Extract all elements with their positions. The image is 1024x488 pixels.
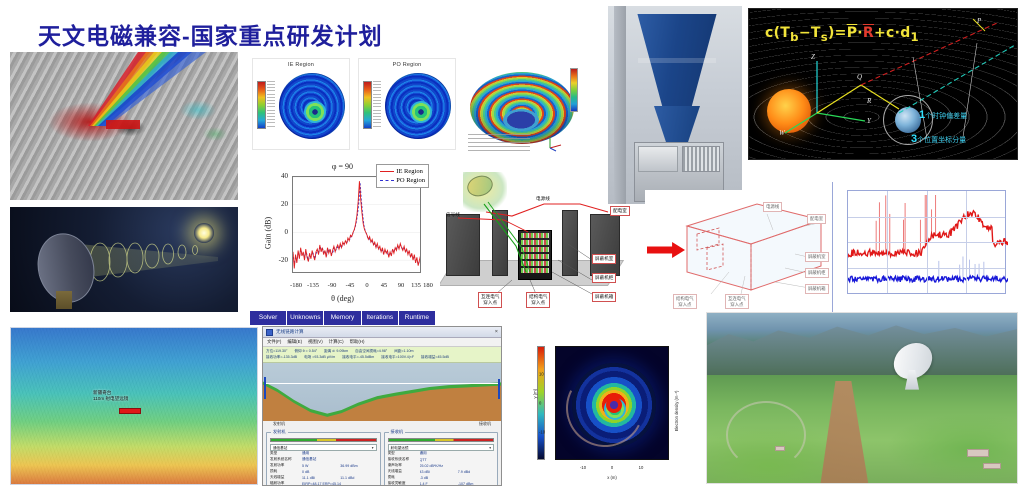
- rx-key-sens: 接收灵敏度: [388, 481, 418, 486]
- computation-readout: 方位=119.30° 俯仰 θ = 0.54° 距离 d: 9.09km 自由空…: [263, 347, 501, 363]
- rx-val-sens-dbm: -107 dBm: [458, 482, 494, 486]
- window-titlebar: 无线链路计算 ×: [263, 327, 501, 338]
- gain-xtick-4: 0: [365, 282, 368, 289]
- label-shield-cabinet: 屏蔽机柜: [592, 273, 616, 283]
- edens-xtick-0: -10: [580, 465, 586, 470]
- edens-ytick-1: 0: [539, 401, 541, 406]
- site-label-line1: 新疆奇台: [93, 390, 111, 395]
- tx-field-type: 类型 通用: [270, 451, 377, 456]
- tx-field-loss: 损耗 0 dB: [270, 469, 377, 474]
- wf-label-shield-cabinet: 屏蔽机柜: [805, 268, 829, 278]
- scatter-beam-overlay: [10, 52, 238, 200]
- tx-key-erp: 辐射功率: [270, 481, 300, 486]
- profile-label-rx: 接收机: [479, 421, 491, 429]
- dish-surface-current-3d-plot: [462, 58, 580, 158]
- radio-telescope-dish: [893, 344, 933, 378]
- tab-solver[interactable]: Solver: [250, 311, 287, 325]
- edens-xtick-1: 0: [611, 465, 613, 470]
- tx-val-gain-dbd: 11.1 dBd: [340, 476, 376, 480]
- tx-key-type: 类型: [270, 451, 300, 456]
- ie-colorbar: [257, 81, 266, 129]
- ie-region-title: IE Region: [253, 59, 349, 68]
- receiver-station-value: 射电望远镜: [391, 445, 409, 451]
- gain-xtick-0: -180: [290, 282, 302, 289]
- gain-xtick-8: 180: [423, 282, 433, 289]
- rx-key-gain: 天线增益: [388, 469, 418, 474]
- tx-val-power-dbm: 36.99 dBm: [340, 464, 376, 468]
- tx-val-gain: 11.1 dBi: [302, 476, 338, 480]
- label-shield-chassis: 屏蔽机箱: [592, 292, 616, 302]
- wf-label-distribution-room: 配电室: [807, 214, 826, 224]
- telescope-site-aerial-photo: [706, 312, 1018, 484]
- site-label-line2: 110m 射电望远镜: [93, 396, 128, 401]
- test-chamber-post: [614, 6, 626, 204]
- receiver-level-meter: [388, 438, 495, 442]
- legend-entry-po: PO Region: [380, 176, 425, 185]
- rx-field-loss: 损耗 -3 dB: [388, 475, 495, 480]
- wf-pen-line2: 穿入点: [678, 302, 691, 307]
- satellite-timing-geometry-figure: c(Tb−Ts)=P·R+c·d1 Z Y W Q R P 1个时钟偏差量 3个…: [748, 8, 1018, 160]
- wf-pen-line2: 穿入点: [730, 302, 743, 307]
- label-power-line: 电源线: [536, 196, 550, 202]
- tx-val-type: 通用: [302, 451, 377, 456]
- site-label: 新疆奇台 110m 射电望远镜: [93, 390, 128, 402]
- penetration-line2: 穿入点: [483, 300, 497, 305]
- annotation-clock-bias: 1个时钟偏差量: [919, 109, 967, 121]
- gain-chart-xlabel: θ (deg): [250, 294, 435, 303]
- penetration-line1: 结构电气: [529, 294, 547, 299]
- glyph-z: Z: [811, 53, 815, 61]
- rx-field-gain: 天线增益 43 dBi 7.9 dBd: [388, 469, 495, 474]
- profile-label-tx: 发射机: [273, 421, 285, 429]
- rx-field-noise: 噪声功率 25.02 dB*K/Hz: [388, 463, 495, 468]
- rx-val-sens: 1.4 F: [420, 482, 456, 486]
- radio-source-star: [194, 223, 214, 243]
- profile-endpoint-labels: 发射机 接收机: [263, 421, 501, 429]
- annotation-text-3: 个位置坐标分量: [917, 137, 966, 144]
- po-colorbar-ticks: [373, 81, 381, 129]
- readout-rx-level-2: 接收电平=100V.4|×F: [381, 354, 414, 360]
- ie-region-plot: IE Region: [252, 58, 350, 150]
- glyph-p: P: [977, 17, 981, 25]
- tx-field-gain: 天线增益 11.1 dBi 11.1 dBd: [270, 475, 377, 480]
- rx-key-noise: 噪声功率: [388, 463, 418, 468]
- legend-label-po: PO Region: [396, 177, 425, 184]
- label-signal-line: 信号线: [446, 212, 460, 218]
- link-budget-software-window[interactable]: 无线链路计算 × 文件(F) 编辑(E) 视图(V) 计算(C) 帮助(H) 方…: [262, 326, 502, 486]
- dem-terrain-map: 新疆奇台 110m 射电望远镜: [10, 327, 258, 485]
- rx-key-system: 接收系统名称: [388, 457, 418, 462]
- edens-xtick-2: 10: [639, 465, 644, 470]
- penetration-line1: 互连电气: [481, 294, 499, 299]
- receiver-group: 接收机 射电望远镜 ▾ 类型 通用 接收系统名称 QTT 噪声功率 25.02 …: [384, 432, 499, 486]
- site-building: [983, 463, 1001, 469]
- wf-pen-line1: 互连电气: [728, 296, 746, 301]
- gain-ytick-3: -20: [264, 256, 288, 264]
- radio-telescope-beam-illustration: [10, 207, 238, 312]
- legend-label-ie: IE Region: [396, 168, 423, 175]
- presentation-slide: 天文电磁兼容-国家重点研发计划: [0, 0, 1024, 488]
- rx-val-gain-dbd: 7.9 dBd: [458, 470, 494, 474]
- rx-key-loss: 损耗: [388, 475, 418, 480]
- po-colorbar: [363, 81, 372, 129]
- axis-triad-icon: [546, 134, 564, 152]
- parameter-panels: 发射机 通信基站 ▾ 类型 通用 发射系统名称 通信基站 发射功率 5 W: [263, 429, 501, 486]
- receiver-station-select[interactable]: 射电望远镜 ▾: [388, 444, 495, 451]
- label-structural-penetration: 结构电气 穿入点: [526, 292, 550, 308]
- edens-ytick-2: -10: [539, 430, 545, 435]
- gain-traces: [293, 177, 421, 273]
- terrain-scattering-simulation-image: [10, 52, 238, 200]
- transmitter-mast: [264, 377, 266, 399]
- gain-xtick-5: 45: [381, 282, 388, 289]
- menu-calc[interactable]: 计算(C): [329, 339, 344, 345]
- cabinet-window: [638, 146, 678, 172]
- label-shield-room: 屏蔽机室: [592, 254, 616, 264]
- horn-lower-cone: [654, 106, 700, 142]
- tx-field-erp: 辐射功率 EIRP=48.17 ERP=45.14: [270, 481, 377, 486]
- rx-val-type: 通用: [420, 451, 495, 456]
- readout-rx-gain: 接收增益=45.5dB: [421, 354, 449, 360]
- geometry-vectors: [749, 9, 1018, 160]
- po-region-title: PO Region: [359, 59, 455, 68]
- spectrum-gridline-v: [887, 191, 888, 293]
- rx-field-type: 类型 通用: [388, 451, 495, 456]
- edens-xlabel: x (m): [555, 475, 669, 480]
- tx-key-loss: 损耗: [270, 469, 300, 474]
- gain-xtick-2: -90: [328, 282, 337, 289]
- menu-help[interactable]: 帮助(H): [350, 339, 365, 345]
- dish3d-annotation-block: [468, 134, 530, 152]
- wf-label-interconnect-penetration: 互连电气 穿入点: [725, 294, 749, 309]
- ie-field-pattern: [279, 73, 345, 139]
- tab-memory[interactable]: Memory: [324, 311, 361, 325]
- rx-val-loss: -3 dB: [420, 476, 495, 480]
- window-title: 无线链路计算: [276, 329, 304, 335]
- gain-ytick-2: 0: [264, 228, 288, 236]
- construction-road: [819, 381, 869, 483]
- app-icon: [266, 329, 273, 336]
- wf-label-shield-room: 屏蔽机室: [805, 252, 829, 262]
- tab-unknowns[interactable]: Unknowns: [287, 311, 324, 325]
- rx-val-gain: 43 dBi: [420, 470, 456, 474]
- annotation-position-components: 3个位置坐标分量: [911, 133, 966, 145]
- edens-plot-area: [555, 346, 669, 460]
- menu-view[interactable]: 视图(V): [308, 339, 323, 345]
- penetration-line2: 穿入点: [531, 300, 545, 305]
- glyph-y: Y: [867, 117, 871, 125]
- gain-ytick-1: 20: [264, 200, 288, 208]
- solver-results-tabstrip[interactable]: Solver Unknowns Memory Iterations Runtim…: [250, 311, 435, 325]
- chevron-down-icon: ▾: [489, 445, 491, 451]
- po-field-pattern: [385, 73, 451, 139]
- tx-val-power: 5 W: [302, 464, 338, 468]
- electron-density-heatmap: Electron density (m⁻³) 10 0 -10 -10 0 10…: [533, 336, 703, 486]
- gain-ytick-0: 40: [264, 172, 288, 180]
- edens-ytick-0: 10: [539, 372, 544, 377]
- label-interconnect-penetration: 互连电气 穿入点: [478, 292, 502, 308]
- spectrum-gridline-v: [927, 191, 928, 293]
- readout-rx-power: 接收功率=-135.3dB: [266, 354, 297, 360]
- rx-key-type: 类型: [388, 451, 418, 456]
- tab-runtime[interactable]: Runtime: [399, 311, 435, 325]
- legend-entry-ie: IE Region: [380, 167, 425, 176]
- edens-ylabel: y (m): [533, 389, 538, 399]
- page-title: 天文电磁兼容-国家重点研发计划: [38, 17, 383, 51]
- glyph-w: W: [779, 129, 785, 137]
- cabinet-vent: [682, 146, 720, 172]
- gain-xtick-7: 135: [411, 282, 421, 289]
- tx-key-power: 发射功率: [270, 463, 300, 468]
- tx-key-gain: 天线增益: [270, 475, 300, 480]
- gain-pattern-chart: φ = 90 Gain (dB) θ (deg) 40 20 0 -20 -18…: [250, 160, 435, 305]
- receiver-caption: 接收机: [389, 429, 406, 435]
- horn-flange-band: [638, 58, 716, 63]
- rx-val-system: QTT: [420, 458, 495, 462]
- transmitter-level-meter: [270, 438, 377, 442]
- wf-label-structural-penetration: 结构电气 穿入点: [673, 294, 697, 309]
- chevron-down-icon: ▾: [372, 445, 374, 451]
- menu-edit[interactable]: 编辑(E): [287, 339, 302, 345]
- transmitter-caption: 发射机: [271, 429, 288, 435]
- rx-val-noise: 25.02 dB*K/Hz: [420, 464, 495, 468]
- rx-field-sensitivity: 接收灵敏度 1.4 F -107 dBm: [388, 481, 495, 486]
- ie-colorbar-ticks: [267, 81, 275, 129]
- spectrum-plot-area: [847, 190, 1006, 294]
- readout-efield: 电场 =93.3dB μV/m: [304, 354, 335, 360]
- terrain-profile-plot: [263, 363, 501, 421]
- readout-row-2: 接收功率=-135.3dB 电场 =93.3dB μV/m 接收电平=-45.5…: [266, 354, 498, 360]
- mountain-ridge: [707, 313, 1017, 375]
- transmitter-station-select[interactable]: 通信基站 ▾: [270, 444, 377, 451]
- readout-rx-level: 接收电平=-45.5dBm: [342, 354, 374, 360]
- legend-swatch-po: [380, 180, 394, 181]
- conical-horn-antenna-photo: [608, 6, 742, 204]
- line-of-sight: [265, 383, 499, 384]
- wf-label-shield-chassis: 屏蔽机箱: [805, 284, 829, 294]
- dish3d-colorbar: [570, 68, 578, 112]
- edens-core: [606, 397, 622, 413]
- site-building: [967, 449, 989, 457]
- spectrum-gridline-v: [966, 191, 967, 293]
- label-distribution-room: 配电室: [610, 206, 630, 216]
- tx-val-erp: EIRP=48.17 ERP=45.14: [302, 482, 377, 486]
- tx-field-system-name: 发射系统名称 通信基站: [270, 457, 377, 462]
- glyph-r: R: [867, 97, 871, 105]
- emi-spectrum-chart: [832, 182, 1022, 314]
- transmitter-group: 发射机 通信基站 ▾ 类型 通用 发射系统名称 通信基站 发射功率 5 W: [266, 432, 381, 486]
- gain-xtick-1: -135: [307, 282, 319, 289]
- glyph-q: Q: [857, 73, 862, 81]
- legend-swatch-ie: [380, 171, 394, 172]
- wf-pen-line1: 结构电气: [676, 296, 694, 301]
- tx-val-system: 通信基站: [302, 457, 377, 462]
- site-building: [775, 446, 785, 451]
- receiver-mast: [498, 379, 500, 399]
- tab-iterations[interactable]: Iterations: [362, 311, 399, 325]
- tx-key-system: 发射系统名称: [270, 457, 300, 462]
- annotation-text-1: 个时钟偏差量: [925, 113, 967, 120]
- spectrum-traces: [848, 191, 1008, 295]
- wf-label-power-line: 电源线: [763, 202, 782, 212]
- gain-xtick-6: 90: [398, 282, 405, 289]
- transmitter-station-value: 通信基站: [273, 445, 287, 451]
- window-menubar[interactable]: 文件(F) 编辑(E) 视图(V) 计算(C) 帮助(H): [263, 338, 501, 347]
- close-icon[interactable]: ×: [495, 329, 498, 336]
- menu-file[interactable]: 文件(F): [267, 339, 281, 345]
- gain-chart-legend: IE Region PO Region: [376, 164, 429, 188]
- gain-xtick-3: -45: [346, 282, 355, 289]
- edens-colorbar-label: Electron density (m⁻³): [674, 391, 679, 432]
- dish-pedestal: [56, 291, 72, 309]
- access-road-loop: [726, 401, 807, 469]
- gain-chart-plot-area: [292, 176, 421, 273]
- tx-field-power: 发射功率 5 W 36.99 dBm: [270, 463, 377, 468]
- site-marker: [119, 408, 141, 414]
- rx-field-system-name: 接收系统名称 QTT: [388, 457, 495, 462]
- po-region-plot: PO Region: [358, 58, 456, 150]
- shielded-enclosure-wireframe: 电源线 配电室 屏蔽机室 屏蔽机柜 屏蔽机箱 结构电气 穿入点 互连电气 穿入点: [645, 190, 840, 315]
- tx-val-loss: 0 dB: [302, 470, 377, 474]
